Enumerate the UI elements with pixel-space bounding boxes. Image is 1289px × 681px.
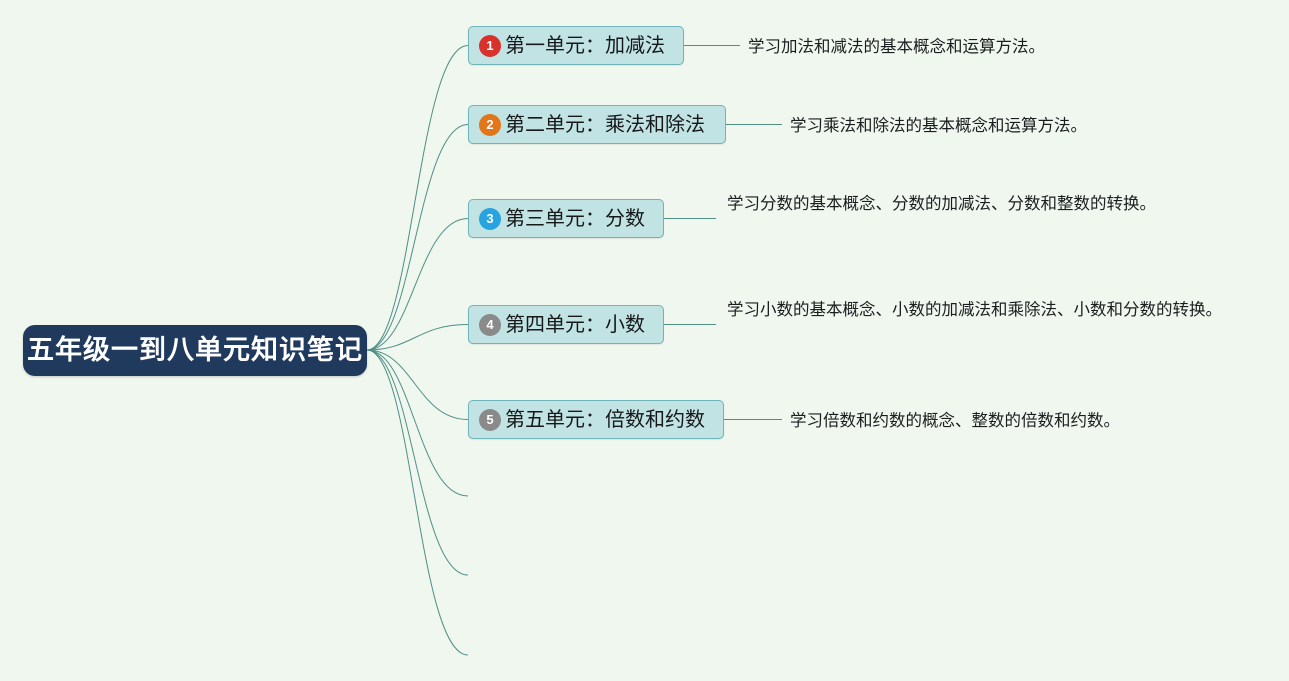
edge-to-empty-branch-7 <box>367 350 468 575</box>
branch-node-2[interactable]: 2第二单元：乘法和除法 <box>468 105 726 144</box>
branch-badge-4: 4 <box>479 314 501 336</box>
connector-stub-2 <box>726 124 782 125</box>
branch-node-label: 第一单元：加减法 <box>505 36 665 56</box>
edge-to-empty-branch-6 <box>367 350 468 496</box>
branch-node-3[interactable]: 3第三单元：分数 <box>468 199 664 238</box>
branch-node-4[interactable]: 4第四单元：小数 <box>468 305 664 344</box>
branch-node-label: 第二单元：乘法和除法 <box>505 115 705 135</box>
edge-to-empty-branch-8 <box>367 350 468 655</box>
branch-badge-5: 5 <box>479 409 501 431</box>
branch-description-3: 学习分数的基本概念、分数的加减法、分数和整数的转换。 <box>727 190 1232 218</box>
branch-node-label: 第四单元：小数 <box>505 315 645 335</box>
branch-description-5: 学习倍数和约数的概念、整数的倍数和约数。 <box>790 407 1210 435</box>
branch-node-1[interactable]: 1第一单元：加减法 <box>468 26 684 65</box>
edge-to-branch-5 <box>367 350 468 420</box>
edge-to-branch-1 <box>367 46 468 351</box>
branch-description-1: 学习加法和减法的基本概念和运算方法。 <box>748 33 1168 61</box>
root-node-label: 五年级一到八单元知识笔记 <box>27 337 363 364</box>
branch-node-label: 第五单元：倍数和约数 <box>505 410 705 430</box>
edge-to-branch-4 <box>367 325 468 351</box>
connector-stub-3 <box>664 218 716 219</box>
edge-to-branch-3 <box>367 219 468 351</box>
connector-stub-4 <box>664 324 716 325</box>
branch-badge-3: 3 <box>479 208 501 230</box>
branch-badge-1: 1 <box>479 35 501 57</box>
edge-to-branch-2 <box>367 125 468 351</box>
branch-node-5[interactable]: 5第五单元：倍数和约数 <box>468 400 724 439</box>
mindmap-canvas: 五年级一到八单元知识笔记 1第一单元：加减法2第二单元：乘法和除法3第三单元：分… <box>0 0 1289 681</box>
branch-description-4: 学习小数的基本概念、小数的加减法和乘除法、小数和分数的转换。 <box>727 296 1232 324</box>
branch-badge-2: 2 <box>479 114 501 136</box>
branch-description-2: 学习乘法和除法的基本概念和运算方法。 <box>790 112 1210 140</box>
root-node[interactable]: 五年级一到八单元知识笔记 <box>23 325 367 376</box>
branch-node-label: 第三单元：分数 <box>505 209 645 229</box>
connector-stub-1 <box>684 45 740 46</box>
connector-stub-5 <box>724 419 782 420</box>
